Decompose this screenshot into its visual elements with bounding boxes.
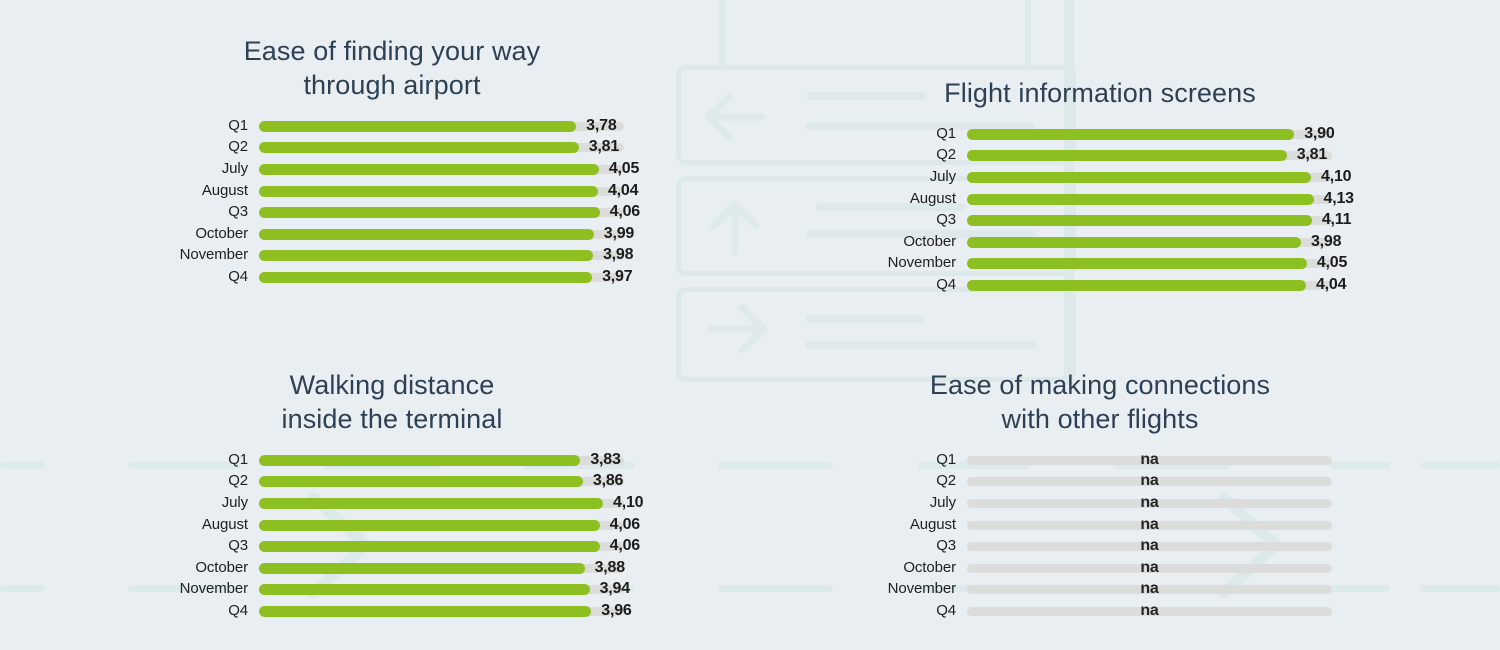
bar-fill [967,215,1312,226]
bar-fill [259,250,593,261]
bar-value-label: na [967,535,1332,557]
bar-value-label: 3,78 [586,115,616,137]
sign-line-3a [806,315,924,323]
bar-row: November3,98 [152,245,632,267]
bar-value-label: na [967,578,1332,600]
bar-fill [967,280,1306,291]
bar-row: Augustna [860,514,1340,536]
chart-title: Ease of finding your way through airport [152,34,632,102]
bar-value-label: 4,10 [1321,166,1351,188]
bar-fill [259,186,598,197]
chart-title: Walking distance inside the terminal [152,368,632,436]
bar-container: na [967,470,1332,492]
bar-container: na [967,578,1332,600]
bar-value-label: na [967,470,1332,492]
bar-value-label: 3,99 [604,223,634,245]
bar-value-label: na [967,449,1332,471]
bar-fill [259,498,603,509]
bar-fill [967,194,1314,205]
bar-fill [259,563,585,574]
category-label: Q2 [152,470,248,492]
category-label: Q3 [860,209,956,231]
bar-row: Q43,96 [152,600,632,622]
bar-value-label: 3,83 [590,449,620,471]
bar-container: 4,13 [967,188,1332,210]
category-label: August [860,514,956,536]
category-label: October [152,223,248,245]
bar-row: November3,94 [152,579,632,601]
bar-container: 3,90 [967,123,1332,145]
bar-container: na [967,514,1332,536]
bar-row: July4,05 [152,158,632,180]
bar-row: October3,98 [860,231,1340,253]
bar-container: 3,97 [259,266,624,288]
bar-fill [967,237,1301,248]
category-label: Q4 [152,266,248,288]
category-label: Q4 [860,274,956,296]
category-label: October [860,231,956,253]
category-label: Q2 [152,136,248,158]
bar-fill [259,606,591,617]
bar-row: Q3na [860,535,1340,557]
bar-row: Q23,81 [860,145,1340,167]
bar-row: Q13,78 [152,115,632,137]
category-label: October [860,557,956,579]
category-label: July [152,158,248,180]
bar-value-label: na [967,514,1332,536]
bar-row: October3,88 [152,557,632,579]
bar-row: Q34,06 [152,201,632,223]
category-label: Q2 [860,470,956,492]
bar-row: August4,06 [152,514,632,536]
bar-value-label: 4,10 [613,492,643,514]
bar-value-label: 4,06 [610,535,640,557]
bar-value-label: na [967,600,1332,622]
category-label: August [152,514,248,536]
bar-fill [967,258,1307,269]
category-label: Q3 [152,201,248,223]
bar-value-label: 4,04 [1316,274,1346,296]
bar-fill [259,272,592,283]
bar-value-label: 4,06 [610,514,640,536]
category-label: November [860,252,956,274]
bar-row: Q23,86 [152,471,632,493]
bar-container: 3,83 [259,449,624,471]
bar-container: 3,98 [259,244,624,266]
bar-row: Q44,04 [860,274,1340,296]
category-label: Q4 [860,600,956,622]
bar-fill [967,172,1311,183]
arrow-up-icon [705,196,765,260]
bar-row: August4,13 [860,188,1340,210]
chart-walking-distance: Walking distance inside the terminal Q13… [152,368,632,622]
category-label: Q1 [152,115,248,137]
bar-container: 4,10 [259,492,624,514]
bar-value-label: na [967,557,1332,579]
bar-container: 3,81 [259,136,624,158]
bar-fill [967,129,1294,140]
bar-value-label: 3,97 [602,266,632,288]
bar-rows: Q13,78Q23,81July4,05August4,04Q34,06Octo… [152,115,632,288]
bar-rows: Q13,83Q23,86July4,10August4,06Q34,06Octo… [152,449,632,622]
bar-row: Q2na [860,471,1340,493]
bar-fill [259,584,590,595]
bar-row: July4,10 [152,492,632,514]
bar-value-label: 3,81 [589,136,619,158]
bar-row: Julyna [860,492,1340,514]
bar-fill [259,455,580,466]
bar-value-label: 4,05 [609,158,639,180]
arrow-left-icon [700,88,772,146]
bar-container: 4,11 [967,209,1332,231]
bar-container: na [967,449,1332,471]
bar-value-label: 3,90 [1304,123,1334,145]
bar-row: Q13,83 [152,449,632,471]
bar-row: Octoberna [860,557,1340,579]
sign-line-3b [805,341,1037,349]
bar-value-label: 4,04 [608,180,638,202]
category-label: Q3 [152,535,248,557]
bar-fill [259,229,594,240]
bar-value-label: 4,05 [1317,252,1347,274]
bar-row: Q34,06 [152,535,632,557]
category-label: July [152,492,248,514]
bar-fill [259,142,579,153]
bar-row: Q43,97 [152,266,632,288]
bar-fill [259,476,583,487]
bar-value-label: 3,98 [1311,231,1341,253]
bar-value-label: 3,94 [600,578,630,600]
bar-container: 4,06 [259,514,624,536]
category-label: July [860,166,956,188]
bar-container: 3,96 [259,600,624,622]
bar-container: 3,94 [259,578,624,600]
bar-row: October3,99 [152,223,632,245]
category-label: July [860,492,956,514]
bar-container: 3,86 [259,470,624,492]
bar-row: November4,05 [860,253,1340,275]
bar-value-label: 3,81 [1297,144,1327,166]
sign-post-right [1025,0,1031,70]
category-label: Q4 [152,600,248,622]
bar-fill [259,121,576,132]
bar-container: 4,04 [967,274,1332,296]
bar-row: Q1na [860,449,1340,471]
bar-container: na [967,557,1332,579]
bar-fill [259,520,600,531]
bar-container: 3,99 [259,223,624,245]
bar-row: Q34,11 [860,209,1340,231]
bar-row: August4,04 [152,180,632,202]
category-label: August [860,188,956,210]
category-label: Q3 [860,535,956,557]
bar-fill [259,207,600,218]
category-label: October [152,557,248,579]
category-label: Q1 [152,449,248,471]
bar-container: 4,06 [259,201,624,223]
arrow-right-icon [700,300,772,358]
category-label: November [860,578,956,600]
bar-row: Q4na [860,600,1340,622]
bar-container: na [967,535,1332,557]
bar-row: Q23,81 [152,137,632,159]
bar-container: 3,78 [259,115,624,137]
bar-container: 3,98 [967,231,1332,253]
bar-value-label: 4,11 [1322,209,1351,231]
bar-row: Novemberna [860,579,1340,601]
bar-value-label: 3,96 [601,600,631,622]
category-label: Q1 [860,123,956,145]
bar-fill [259,164,599,175]
chart-ease-of-finding-way: Ease of finding your way through airport… [152,34,632,288]
bar-container: 3,81 [967,144,1332,166]
bar-value-label: na [967,492,1332,514]
chart-title: Flight information screens [860,76,1340,110]
bar-container: 4,10 [967,166,1332,188]
category-label: Q1 [860,449,956,471]
bar-fill [967,150,1287,161]
infographic-canvas: Ease of finding your way through airport… [0,0,1500,650]
bar-container: 4,05 [259,158,624,180]
category-label: August [152,180,248,202]
bar-row: Q13,90 [860,123,1340,145]
bar-container: 4,04 [259,180,624,202]
bar-container: na [967,600,1332,622]
category-label: November [152,578,248,600]
sign-post-left [719,0,725,70]
bar-value-label: 4,13 [1324,188,1354,210]
bar-fill [259,541,600,552]
bar-container: 3,88 [259,557,624,579]
category-label: Q2 [860,144,956,166]
bar-value-label: 3,86 [593,470,623,492]
category-label: November [152,244,248,266]
chart-ease-of-making-connections: Ease of making connections with other fl… [860,368,1340,622]
bar-container: 4,05 [967,252,1332,274]
bar-container: na [967,492,1332,514]
bar-value-label: 3,88 [595,557,625,579]
bar-row: July4,10 [860,166,1340,188]
bar-value-label: 4,06 [610,201,640,223]
bar-rows: Q1naQ2naJulynaAugustnaQ3naOctobernaNovem… [860,449,1340,622]
chart-title: Ease of making connections with other fl… [860,368,1340,436]
bar-value-label: 3,98 [603,244,633,266]
bar-container: 4,06 [259,535,624,557]
bar-rows: Q13,90Q23,81July4,10August4,13Q34,11Octo… [860,123,1340,296]
chart-flight-information-screens: Flight information screens Q13,90Q23,81J… [860,76,1340,296]
